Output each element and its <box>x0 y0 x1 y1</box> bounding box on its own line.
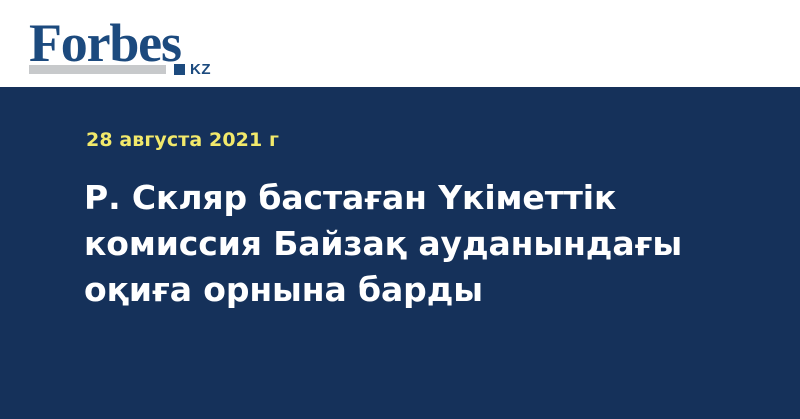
logo-square-icon <box>174 64 185 75</box>
forbes-kz-logo[interactable]: Forbes KZ <box>29 18 229 78</box>
site-header: Forbes KZ <box>0 0 800 87</box>
article-headline: Р. Скляр бастаған Үкіметтік комиссия Бай… <box>84 175 684 313</box>
article-card: Forbes KZ 28 августа 2021 г Р. Скляр бас… <box>0 0 800 419</box>
article-date: 28 августа 2021 г <box>86 129 279 151</box>
article-panel: 28 августа 2021 г Р. Скляр бастаған Үкім… <box>0 87 800 419</box>
logo-region-label: KZ <box>190 62 211 77</box>
forbes-wordmark: Forbes <box>29 16 181 70</box>
logo-underbar-divider <box>29 65 166 74</box>
